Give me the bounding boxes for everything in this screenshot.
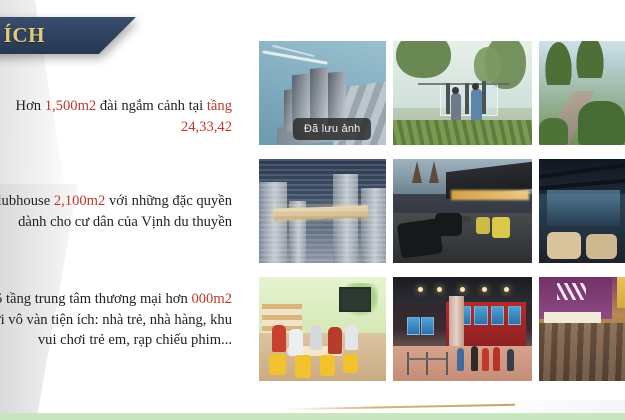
saved-image-toast: Đã lưu ảnh — [293, 118, 371, 140]
feature-paragraph-2: Clubhouse 2,100m2 với những đặc quyền dà… — [0, 191, 250, 232]
page-title: N ÍCH — [0, 23, 45, 48]
bottom-accent-bar — [0, 413, 625, 420]
body-text: đài ngắm cảnh tại — [96, 98, 207, 114]
feature-paragraph-3: 5 tầng trung tâm thương mại hơn 000m2 vớ… — [0, 289, 250, 351]
feature-text-column: Hơn 1,500m2 đài ngắm cảnh tại tầng 24,33… — [0, 96, 250, 351]
highlight-text: 000m2 — [191, 291, 232, 307]
section-banner: N ÍCH — [0, 17, 136, 54]
body-text: 5 tầng trung tâm thương mại hơn — [0, 291, 191, 307]
body-text: Clubhouse — [0, 193, 54, 209]
body-text: với vô vàn tiện ích: nhà trẻ, nhà hàng, … — [0, 312, 232, 349]
photo-sky-deck[interactable] — [393, 41, 532, 145]
body-text: Hơn — [16, 98, 45, 114]
slide-canvas: N ÍCH Hơn 1,500m2 đài ngắm cảnh tại tầng… — [0, 0, 625, 420]
photo-garden-walkway[interactable] — [539, 41, 625, 145]
photo-kindergarten[interactable] — [259, 277, 386, 381]
highlight-text: 2,100m2 — [54, 193, 105, 209]
banner-shape: N ÍCH — [0, 17, 136, 54]
photo-cinema-lobby[interactable] — [393, 277, 532, 381]
photo-skybridge[interactable] — [259, 159, 386, 263]
photo-rooftop-bar[interactable] — [393, 159, 532, 263]
photo-aerial-towers[interactable]: Đã lưu ảnh — [259, 41, 386, 145]
photo-food-court[interactable] — [539, 277, 625, 381]
highlight-text: 1,500m2 — [45, 98, 96, 114]
photo-terrace-lounge[interactable] — [539, 159, 625, 263]
photo-grid: Đã lưu ảnh — [259, 41, 625, 381]
feature-paragraph-1: Hơn 1,500m2 đài ngắm cảnh tại tầng 24,33… — [0, 96, 250, 137]
